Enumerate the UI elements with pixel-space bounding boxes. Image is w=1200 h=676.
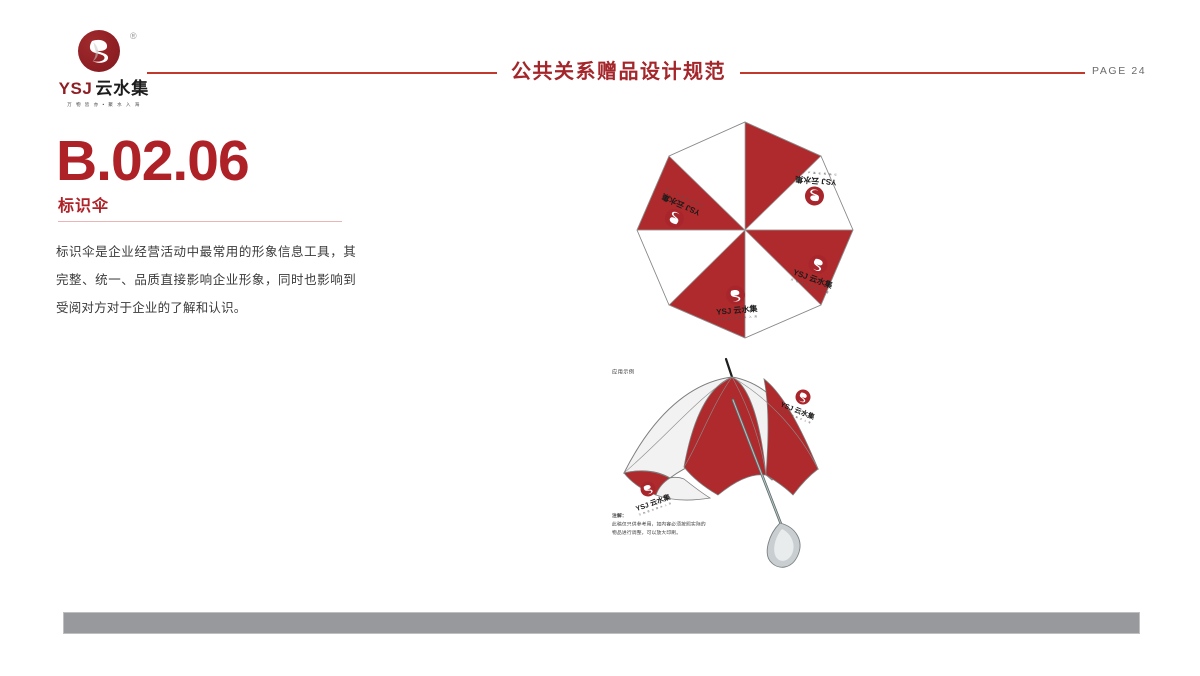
section-description: 标识伞是企业经营活动中最常用的形象信息工具，其完整、统一、品质直接影响企业形象，… xyxy=(56,238,356,322)
note-title: 注解： xyxy=(612,512,706,521)
umbrella-top-view: YSJ 云水集 万 物 皆 亦 聚 水 入 海 YSJ 云水集 万 物 皆 亦 … xyxy=(620,115,870,350)
logo-tagline: 万 物 皆 亦 • 聚 水 入 海 xyxy=(60,101,148,107)
registered-trademark-icon: ® xyxy=(130,32,137,41)
footer-color-bar xyxy=(63,612,1140,634)
artwork-area: YSJ 云水集 万 物 皆 亦 聚 水 入 海 YSJ 云水集 万 物 皆 亦 … xyxy=(560,110,1160,570)
logo-chinese-text: 云水集 xyxy=(95,79,149,98)
note-line-2: 物品进行调整，可以放大印刷。 xyxy=(612,529,706,538)
section-code: B.02.06 xyxy=(56,128,249,194)
page-header: ® YSJ云水集 万 物 皆 亦 • 聚 水 入 海 公共关系赠品设计规范 PA… xyxy=(0,0,1200,115)
page-number-label: PAGE 24 xyxy=(1092,65,1146,77)
section-divider xyxy=(58,221,342,222)
header-rule-left xyxy=(147,72,497,74)
section-name: 标识伞 xyxy=(58,192,109,216)
note-block: 注解： 此稿仅只供参考用，如内容必须按照实际的 物品进行调整，可以放大印刷。 xyxy=(612,512,706,538)
brand-logo: ® YSJ云水集 万 物 皆 亦 • 聚 水 入 海 xyxy=(56,30,152,104)
logo-latin-text: YSJ xyxy=(59,79,93,98)
leaf-emblem-icon xyxy=(78,30,120,72)
header-rule-right xyxy=(740,72,1085,74)
page-title: 公共关系赠品设计规范 xyxy=(497,58,740,86)
logo-wordmark: YSJ云水集 万 物 皆 亦 • 聚 水 入 海 xyxy=(56,74,152,108)
note-line-1: 此稿仅只供参考用，如内容必须按照实际的 xyxy=(612,521,706,530)
umbrella-open-perspective-view: YSJ 云水集 万 物 皆 亦 聚 水 入 海 YSJ 云水集 万 物 皆 亦 … xyxy=(600,355,880,590)
